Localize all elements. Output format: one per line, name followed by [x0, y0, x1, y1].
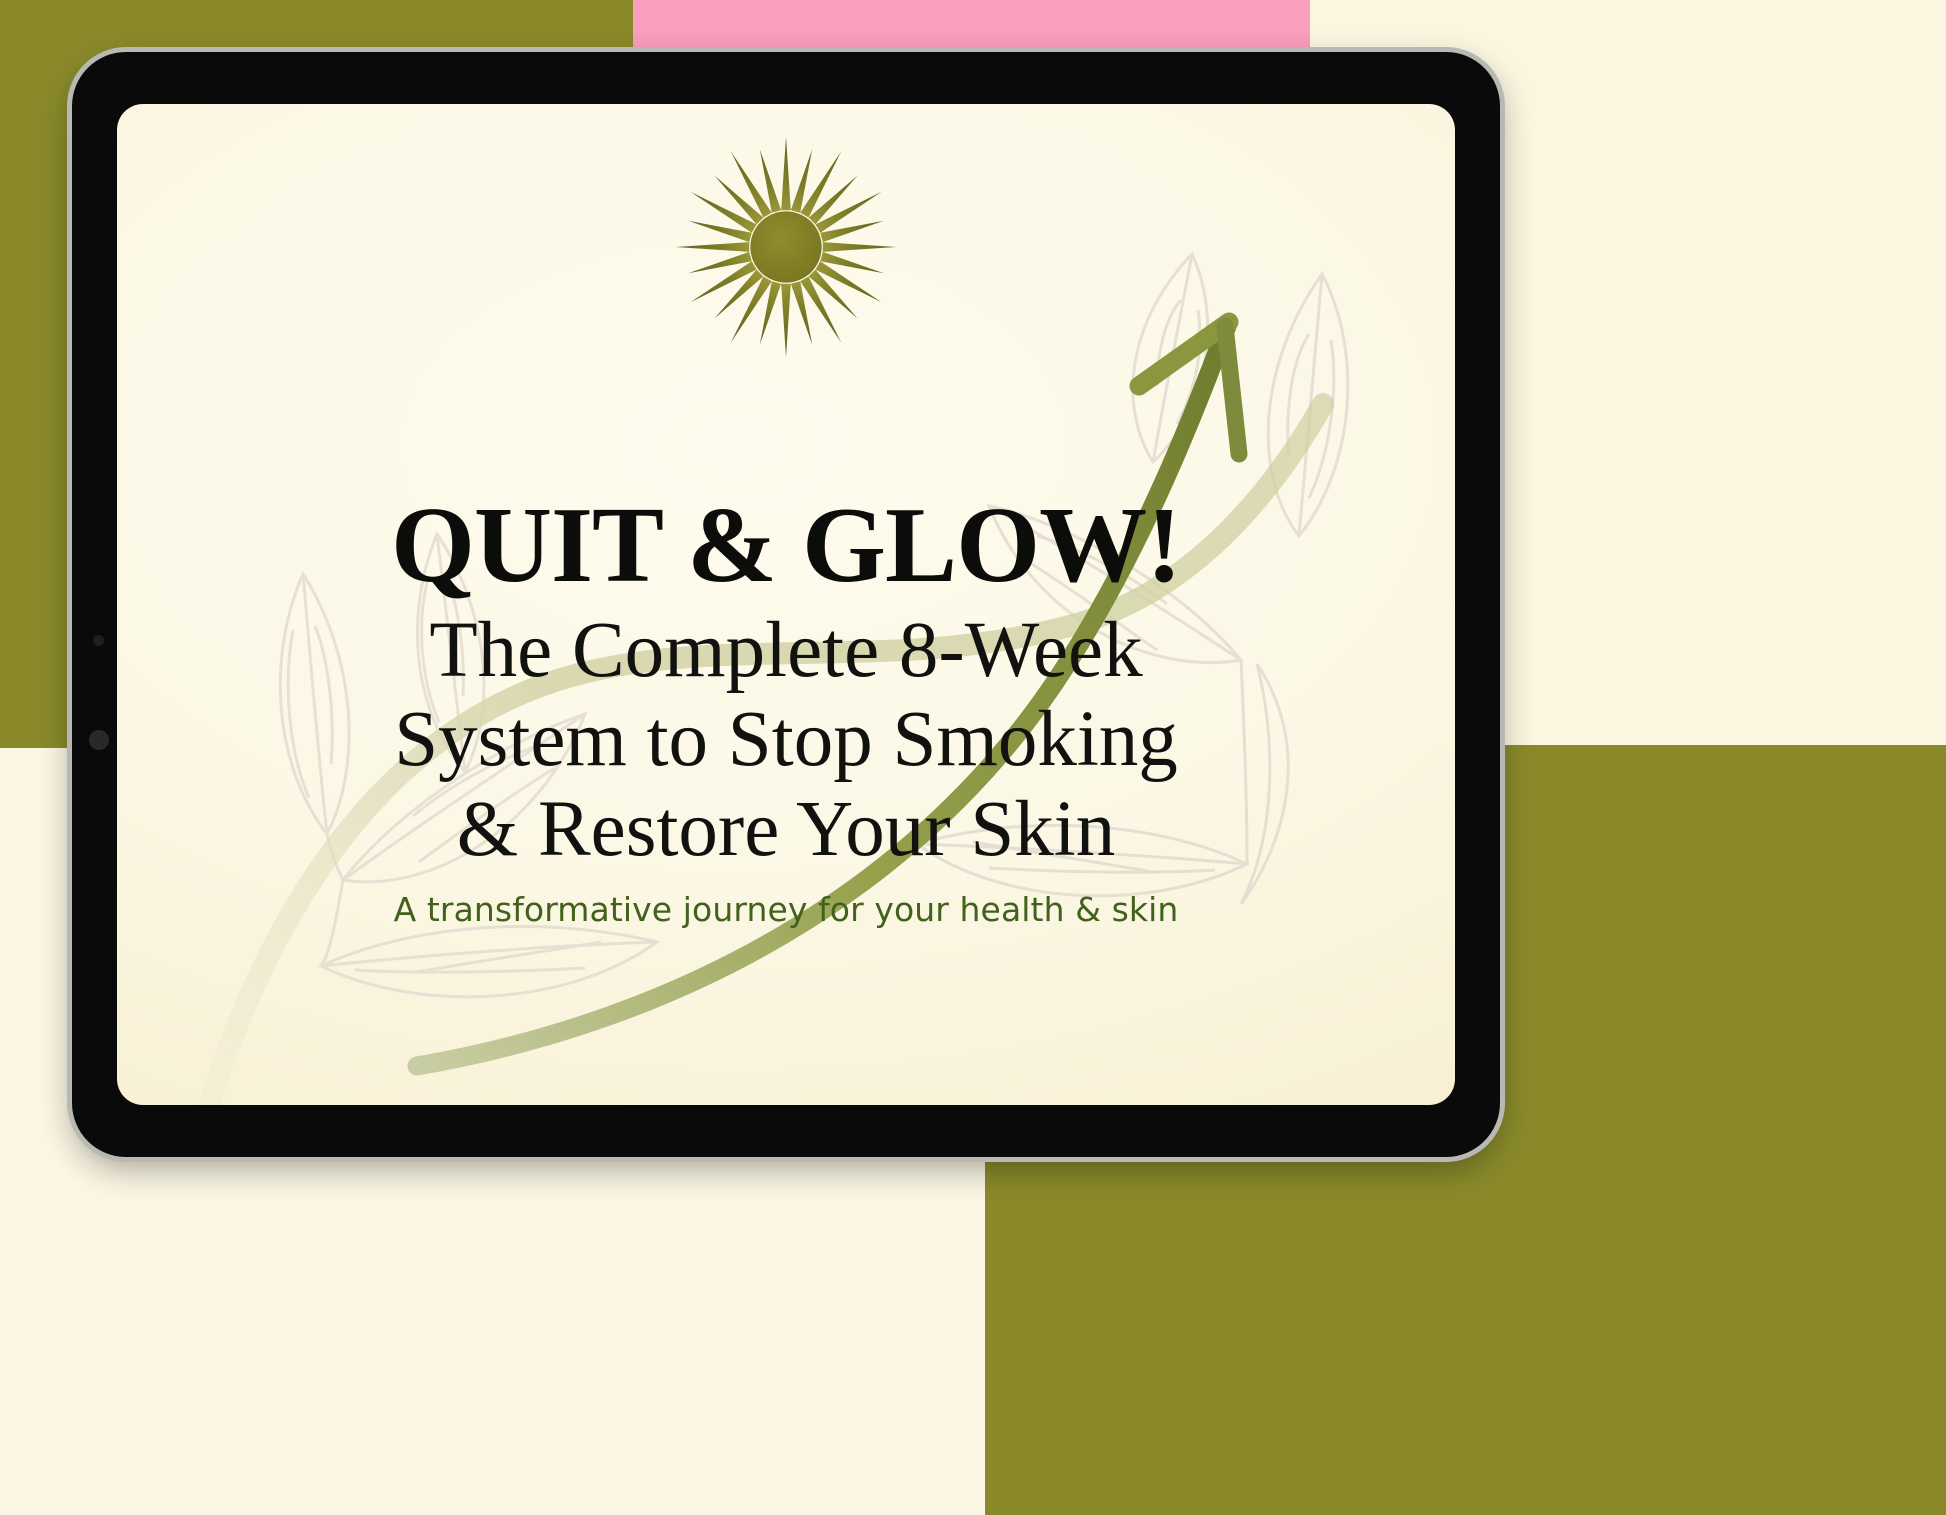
page-title: QUIT & GLOW! [177, 492, 1395, 600]
headline-block: QUIT & GLOW! The Complete 8-Week System … [117, 492, 1455, 874]
sensor-icon [89, 730, 109, 750]
subtitle-line-3: & Restore Your Skin [177, 785, 1395, 874]
tagline: A transformative journey for your health… [117, 890, 1455, 929]
page-subtitle: The Complete 8-Week System to Stop Smoki… [177, 606, 1395, 874]
tablet-screen: QUIT & GLOW! The Complete 8-Week System … [117, 104, 1455, 1105]
subtitle-line-2: System to Stop Smoking [177, 695, 1395, 784]
camera-icon [93, 635, 104, 646]
background-block-pink-top [633, 0, 1310, 60]
tablet-device: QUIT & GLOW! The Complete 8-Week System … [72, 52, 1500, 1157]
sunburst-icon [671, 132, 901, 362]
subtitle-line-1: The Complete 8-Week [177, 606, 1395, 695]
slide-canvas: QUIT & GLOW! The Complete 8-Week System … [0, 0, 1946, 1515]
